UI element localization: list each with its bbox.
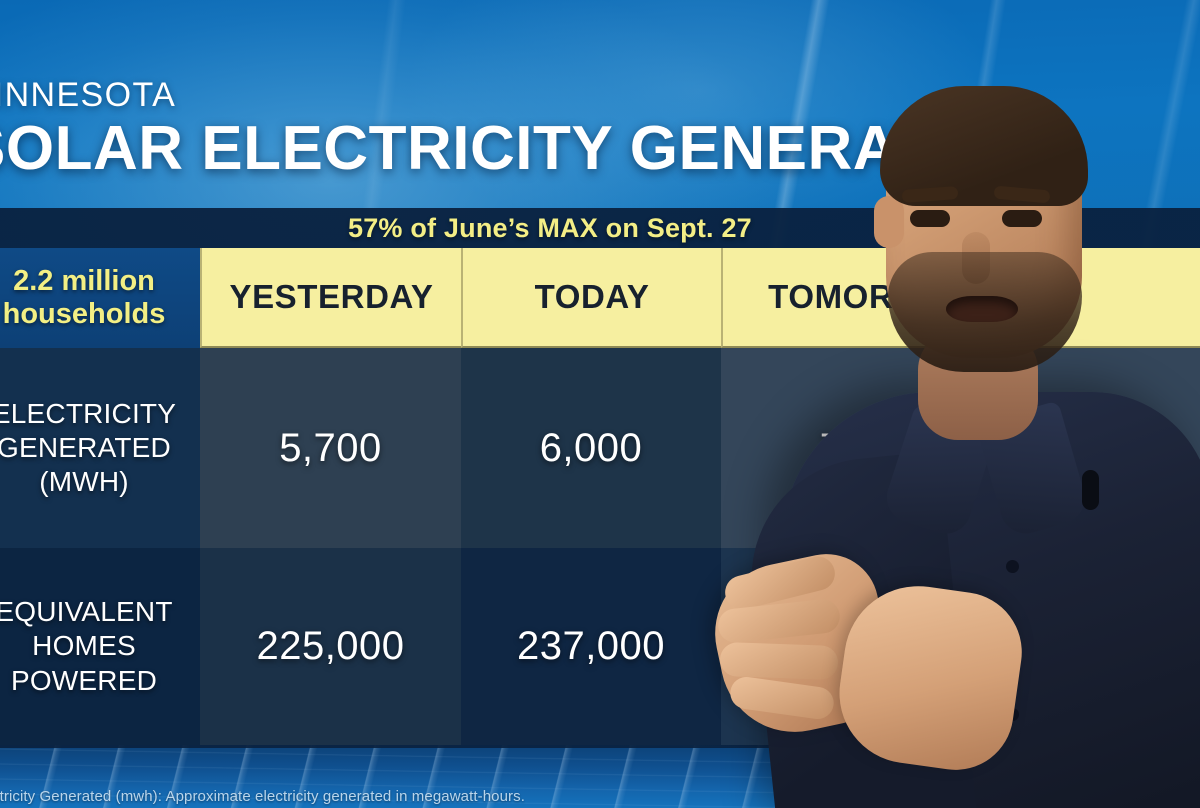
- column-header-overflow: [1021, 248, 1200, 348]
- subtitle-text: 57% of June’s MAX on Sept. 27: [348, 213, 752, 244]
- table-cell-electricity-yesterday: 5,700: [200, 348, 461, 548]
- row-label-electricity-generated-text: ELECTRICITY GENERATED (MWH): [0, 397, 194, 499]
- row-label-equivalent-homes: EQUIVALENT HOMES POWERED: [0, 548, 200, 745]
- table-corner-label-cell: 2.2 million households: [0, 248, 200, 348]
- table-cell-value: 6,000: [540, 426, 643, 471]
- broadcast-graphic: MINNESOTA SOLAR ELECTRICITY GENERATION 5…: [0, 0, 1200, 808]
- table-cell-electricity-tomorrow: 7,000: [721, 348, 1021, 548]
- column-header-tomorrow-label: TOMORROW: [768, 278, 976, 316]
- page-title: SOLAR ELECTRICITY GENERATION: [0, 116, 1200, 183]
- footer-disclaimer: Electricity Generated (mwh): Approximate…: [0, 784, 1200, 808]
- table-cell-homes-today: 237,000: [461, 548, 721, 745]
- column-header-yesterday: YESTERDAY: [200, 248, 461, 348]
- column-header-today-label: TODAY: [535, 278, 650, 316]
- solar-generation-table: 2.2 million households YESTERDAY TODAY T…: [0, 248, 1200, 745]
- row-label-equivalent-homes-text: EQUIVALENT HOMES POWERED: [0, 595, 194, 697]
- table-cell-homes-tomorrow: [721, 548, 1021, 745]
- subtitle-bar: 57% of June’s MAX on Sept. 27: [0, 208, 1200, 248]
- table-cell-value: 5,700: [279, 426, 382, 471]
- column-header-today: TODAY: [461, 248, 721, 348]
- table-cell-value: 225,000: [256, 624, 404, 669]
- kicker-text: MINNESOTA: [0, 78, 1200, 112]
- table-cell-electricity-today: 6,000: [461, 348, 721, 548]
- table-cell-value: 7,000: [820, 426, 923, 471]
- column-header-yesterday-label: YESTERDAY: [229, 278, 433, 316]
- headline-block: MINNESOTA SOLAR ELECTRICITY GENERATION: [0, 78, 1200, 183]
- table-cell-homes-yesterday: 225,000: [200, 548, 461, 745]
- table-cell-homes-overflow: [1021, 548, 1200, 745]
- footer-disclaimer-text: Electricity Generated (mwh): Approximate…: [0, 788, 525, 805]
- row-label-electricity-generated: ELECTRICITY GENERATED (MWH): [0, 348, 200, 548]
- table-cell-value: 237,000: [517, 624, 665, 669]
- table-cell-electricity-overflow: [1021, 348, 1200, 548]
- table-corner-label: 2.2 million households: [0, 265, 190, 331]
- column-header-tomorrow: TOMORROW: [721, 248, 1021, 348]
